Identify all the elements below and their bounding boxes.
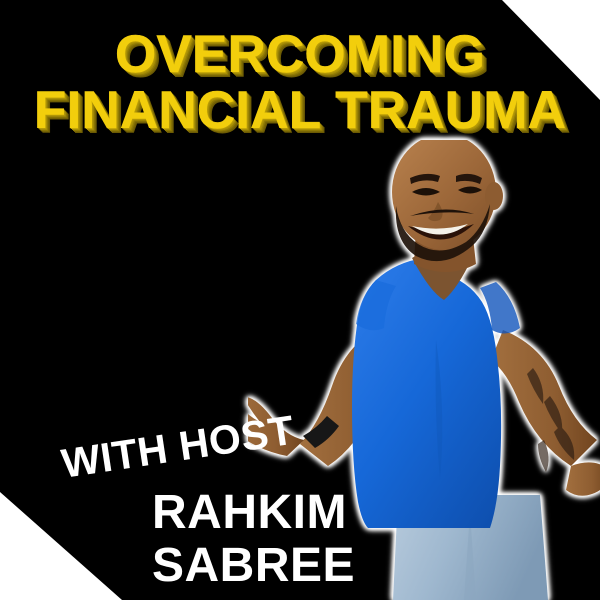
title-line-2: FINANCIAL TRAUMA [0,84,600,137]
bottom-left-corner-triangle [0,492,122,600]
podcast-cover-art: OVERCOMING FINANCIAL TRAUMA WITH HOST RA… [0,0,600,600]
host-first-name: RAHKIM [152,489,347,537]
ear [485,182,503,210]
host-last-name: SABREE [152,542,355,590]
title-line-1: OVERCOMING [0,28,600,81]
title-block: OVERCOMING FINANCIAL TRAUMA [0,28,600,137]
right-hand [566,462,600,495]
